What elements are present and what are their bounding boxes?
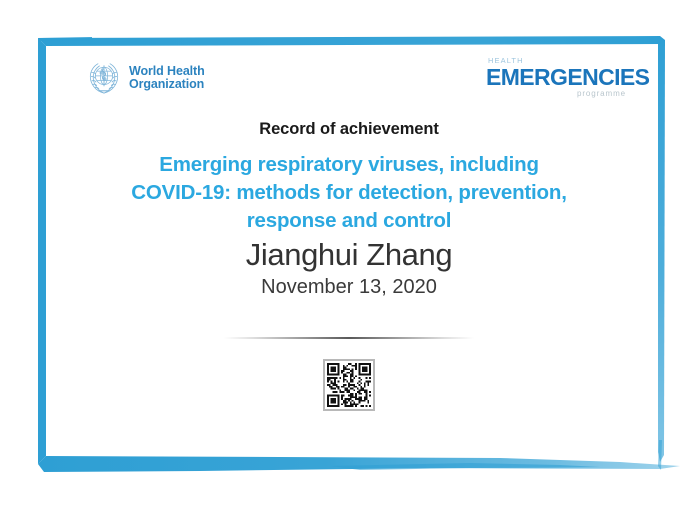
frame-right-tail — [658, 440, 662, 470]
frame-bottom-stroke — [38, 456, 680, 472]
recipient-name: Jianghui Zhang — [48, 237, 650, 273]
qr-code-canvas — [327, 363, 371, 407]
who-logo: World Health Organization — [86, 60, 205, 96]
certificate-content: World Health Organization HEALTH EMERGEN… — [48, 48, 650, 448]
who-wordmark-line1: World Health — [129, 65, 205, 79]
course-title: Emerging respiratory viruses, including … — [48, 151, 650, 235]
emergencies-programme-label: programme — [486, 89, 632, 99]
frame-bottom-wisp — [330, 463, 600, 470]
who-wordmark: World Health Organization — [129, 65, 205, 92]
section-divider — [224, 337, 474, 339]
record-of-achievement-label: Record of achievement — [48, 120, 650, 139]
frame-right-stroke — [658, 36, 665, 462]
frame-top-stroke — [38, 36, 661, 46]
who-wordmark-line2: Organization — [129, 78, 205, 92]
who-emblem-icon — [86, 60, 122, 96]
verification-qr-code[interactable] — [323, 359, 375, 411]
frame-left-stroke — [38, 38, 46, 464]
issue-date: November 13, 2020 — [48, 275, 650, 299]
certificate-page: World Health Organization HEALTH EMERGEN… — [0, 0, 698, 506]
health-emergencies-logo: HEALTH EMERGENCIES programme — [486, 56, 632, 99]
course-title-line-2: COVID-19: methods for detection, prevent… — [48, 179, 650, 207]
emergencies-main-label: EMERGENCIES — [486, 65, 632, 89]
course-title-line-1: Emerging respiratory viruses, including — [48, 151, 650, 179]
course-title-line-3: response and control — [48, 207, 650, 235]
frame-top-left-nib — [38, 37, 92, 41]
logo-row: World Health Organization HEALTH EMERGEN… — [48, 48, 650, 104]
